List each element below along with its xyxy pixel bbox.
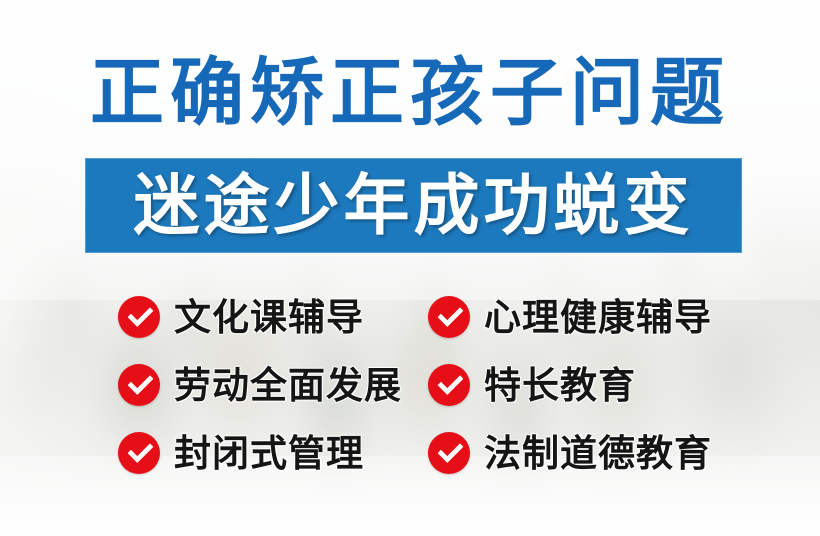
feature-item: 法制道德教育: [428, 432, 738, 474]
check-circle-icon: [428, 364, 470, 406]
feature-item: 心理健康辅导: [428, 296, 738, 338]
feature-item: 劳动全面发展: [118, 364, 428, 406]
check-circle-icon: [118, 364, 160, 406]
check-circle-icon: [118, 296, 160, 338]
check-circle-icon: [428, 432, 470, 474]
feature-label: 特长教育: [484, 367, 636, 404]
subheadline-banner: 迷途少年成功蜕变: [85, 158, 742, 253]
check-circle-icon: [118, 432, 160, 474]
poster-content: 正确矫正孩子问题 迷途少年成功蜕变 文化课辅导 心理健康辅导 劳动全面发展 特长…: [0, 0, 820, 536]
feature-label: 心理健康辅导: [484, 299, 712, 336]
feature-label: 文化课辅导: [174, 299, 364, 336]
feature-list: 文化课辅导 心理健康辅导 劳动全面发展 特长教育 封闭式管理 法制道德教育: [118, 283, 738, 487]
feature-label: 法制道德教育: [484, 435, 712, 472]
promo-poster: 正确矫正孩子问题 迷途少年成功蜕变 文化课辅导 心理健康辅导 劳动全面发展 特长…: [0, 0, 820, 536]
feature-item: 封闭式管理: [118, 432, 428, 474]
check-circle-icon: [428, 296, 470, 338]
subheadline-text: 迷途少年成功蜕变: [134, 173, 694, 239]
headline-text: 正确矫正孩子问题: [0, 56, 820, 130]
feature-label: 封闭式管理: [174, 435, 364, 472]
feature-item: 特长教育: [428, 364, 738, 406]
feature-item: 文化课辅导: [118, 296, 428, 338]
feature-label: 劳动全面发展: [174, 367, 402, 404]
